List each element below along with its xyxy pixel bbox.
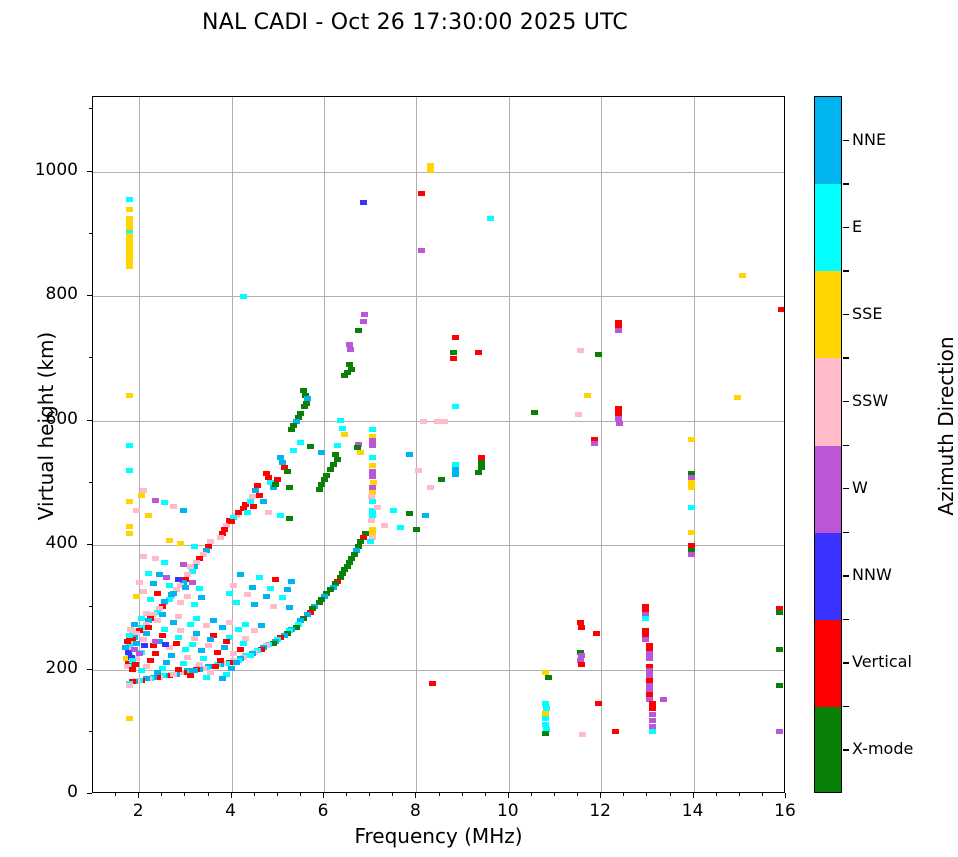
echo-point [288,579,295,584]
echo-point [136,651,143,656]
echo-point [126,443,133,448]
echo-point [175,577,182,582]
echo-point [355,328,362,333]
colorbar-boundary-tick [843,706,849,707]
echo-point [649,718,656,723]
echo-point [124,639,131,644]
echo-point [369,463,376,468]
echo-point [251,628,258,633]
y-axis-tick [87,544,92,545]
echo-point [739,273,746,278]
echo-point [422,513,429,518]
x-axis-minor-tick [115,793,116,796]
echo-point [126,716,133,721]
x-axis-minor-tick [646,793,647,796]
echo-point [260,499,267,504]
echo-point [191,636,198,641]
echo-point [240,641,247,646]
echo-point [452,335,459,340]
x-axis-minor-tick [577,793,578,796]
echo-point [452,472,459,477]
echo-point [200,656,207,661]
echo-point [233,660,240,665]
echo-point [126,683,133,688]
echo-point [212,664,219,669]
echo-point [361,312,368,317]
echo-point [374,505,381,510]
y-axis-tick [87,171,92,172]
echo-point [150,581,157,586]
colorbar-tick [843,662,849,663]
colorbar-tick [843,749,849,750]
echo-point [168,592,175,597]
echo-point [159,612,166,617]
echo-point [182,585,189,590]
echo-point [427,168,434,173]
echo-point [776,729,783,734]
echo-point [297,440,304,445]
echo-point [270,604,277,609]
echo-point [154,618,161,623]
echo-point [584,393,591,398]
colorbar-label-ssw: SSW [852,391,888,410]
x-axis-minor-tick [392,793,393,796]
colorbar-segment-e[interactable] [815,184,841,271]
echo-point [175,614,182,619]
echo-point [612,729,619,734]
colorbar-tick [843,140,849,141]
x-axis-tick-label: 14 [663,801,723,821]
x-axis-minor-tick [716,793,717,796]
echo-point [420,419,427,424]
echo-point [406,452,413,457]
y-axis-label: Virtual height (km) [34,286,58,566]
echo-point [173,641,180,646]
echo-point [429,681,436,686]
echo-point [126,499,133,504]
echo-point [286,516,293,521]
echo-point [191,602,198,607]
echo-point [133,508,140,513]
echo-point [595,352,602,357]
echo-point [187,673,194,678]
x-axis-tick [415,793,416,798]
echo-point [441,419,448,424]
echo-point [126,524,133,529]
echo-point [418,248,425,253]
echo-point [163,575,170,580]
echo-point [237,647,244,652]
echo-point [217,658,224,663]
echo-point [642,637,649,642]
echo-point [250,504,257,509]
echo-point [545,675,552,680]
echo-point [127,627,134,632]
y-axis-minor-tick [89,108,92,109]
echo-point [390,508,397,513]
echo-point [152,639,159,644]
echo-point [230,651,237,656]
echo-point [138,616,145,621]
colorbar-label-nne: NNE [852,130,886,149]
echo-point [126,197,133,202]
x-axis-minor-tick [739,793,740,796]
echo-point [688,437,695,442]
echo-point [180,562,187,567]
echo-point [251,602,258,607]
scatter-data-layer [93,97,784,792]
echo-point [776,610,783,615]
echo-point [233,600,240,605]
echo-point [161,560,168,565]
echo-point [217,535,224,540]
echo-point [415,468,422,473]
x-axis-tick [693,793,694,798]
colorbar-boundary-tick [843,183,849,184]
x-axis-minor-tick [485,793,486,796]
echo-point [578,625,585,630]
x-axis-minor-tick [208,793,209,796]
echo-point [316,487,323,492]
echo-point [360,200,367,205]
echo-point [247,653,254,658]
echo-point [263,594,270,599]
echo-point [258,623,265,628]
echo-point [126,207,133,212]
echo-point [126,468,133,473]
echo-point [226,620,233,625]
chart-title: NAL CADI - Oct 26 17:30:00 2025 UTC [0,10,830,35]
echo-point [369,427,376,432]
echo-point [145,513,152,518]
colorbar-boundary-tick [843,619,849,620]
echo-point [579,732,586,737]
y-axis-minor-tick [89,606,92,607]
echo-point [198,595,205,600]
echo-point [193,616,200,621]
echo-point [170,504,177,509]
echo-point [531,410,538,415]
echo-point [279,595,286,600]
echo-point [182,647,189,652]
echo-point [357,450,364,455]
echo-point [642,616,649,621]
plot-area[interactable] [92,96,785,793]
echo-point [221,645,228,650]
echo-point [265,510,272,515]
colorbar-tick [843,401,849,402]
x-axis-tick [138,793,139,798]
x-axis-minor-tick [161,793,162,796]
echo-point [450,350,457,355]
colorbar-tick [843,314,849,315]
echo-point [140,589,147,594]
x-axis-tick-label: 6 [293,801,353,821]
echo-point [152,556,159,561]
echo-point [368,518,375,523]
echo-point [286,605,293,610]
x-axis-minor-tick [462,793,463,796]
echo-point [277,513,284,518]
colorbar-segment-nnw[interactable] [815,533,841,620]
echo-point [284,469,291,474]
echo-point [616,421,623,426]
colorbar-segment-x-mode[interactable] [815,707,841,793]
x-axis-label: Frequency (MHz) [92,824,785,848]
x-axis-tick-label: 8 [385,801,445,821]
x-axis-minor-tick [439,793,440,796]
echo-point [734,395,741,400]
echo-point [688,552,695,557]
echo-point [150,643,157,648]
y-axis-minor-tick [89,233,92,234]
colorbar-label-w: W [852,478,868,497]
echo-point [177,541,184,546]
echo-point [177,628,184,633]
echo-point [369,499,376,504]
echo-point [334,443,341,448]
x-axis-minor-tick [300,793,301,796]
echo-point [152,651,159,656]
x-axis-tick [600,793,601,798]
y-axis-tick-label: 200 [18,658,78,678]
echo-point [205,643,212,648]
echo-point [230,583,237,588]
x-axis-minor-tick [762,793,763,796]
echo-point [240,294,247,299]
echo-point [591,441,598,446]
echo-point [162,642,169,647]
colorbar-boundary-tick [843,357,849,358]
echo-point [207,637,214,642]
colorbar-segment-ssw[interactable] [815,358,841,445]
echo-point [166,538,173,543]
x-axis-minor-tick [184,793,185,796]
echo-point [256,493,263,498]
echo-point [242,622,249,627]
echo-point [152,498,159,503]
x-axis-minor-tick [623,793,624,796]
echo-point [180,661,187,666]
x-axis-minor-tick [277,793,278,796]
echo-point [132,662,139,667]
echo-point [189,642,196,647]
echo-point [141,643,148,648]
echo-point [272,482,279,487]
echo-point [776,683,783,688]
echo-point [688,485,695,490]
echo-point [413,527,420,532]
x-axis-tick-label: 12 [570,801,630,821]
echo-point [210,618,217,623]
echo-point [161,627,168,632]
colorbar-tick [843,575,849,576]
echo-point [369,474,376,479]
echo-point [367,539,374,544]
x-axis-tick-label: 10 [478,801,538,821]
echo-point [615,328,622,333]
echo-point [145,625,152,630]
x-axis-tick-label: 2 [108,801,168,821]
x-axis-minor-tick [554,793,555,796]
echo-point [154,591,161,596]
echo-point [381,523,388,528]
y-axis-minor-tick [89,482,92,483]
echo-point [593,631,600,636]
echo-point [187,622,194,627]
echo-point [649,712,656,717]
echo-point [406,511,413,516]
colorbar-label-vertical: Vertical [852,652,912,671]
echo-point [147,658,154,663]
echo-point [226,591,233,596]
colorbar-segment-sse[interactable] [815,271,841,358]
echo-point [318,450,325,455]
echo-point [184,594,191,599]
echo-point [369,443,376,448]
echo-point [301,404,308,409]
echo-point [307,444,314,449]
x-axis-tick-label: 16 [755,801,815,821]
y-axis-minor-tick [89,357,92,358]
colorbar-label: Azimuth Direction [934,286,958,566]
echo-point [244,592,251,597]
echo-point [191,544,198,549]
x-axis-minor-tick [346,793,347,796]
echo-point [187,564,194,569]
echo-point [487,216,494,221]
x-axis-tick [508,793,509,798]
echo-point [214,650,221,655]
echo-point [203,675,210,680]
azimuth-colorbar[interactable] [814,96,842,793]
echo-point [575,412,582,417]
echo-point [450,356,457,361]
echo-point [475,470,482,475]
y-axis-tick-label: 1000 [18,160,78,180]
echo-point [138,668,145,673]
echo-point [776,647,783,652]
x-axis-minor-tick [254,793,255,796]
echo-point [143,631,150,636]
echo-point [360,319,367,324]
x-axis-tick [323,793,324,798]
echo-point [140,637,147,642]
colorbar-tick [843,227,849,228]
echo-point [170,672,177,677]
echo-point [180,508,187,513]
echo-point [219,625,226,630]
colorbar-boundary-tick [843,270,849,271]
echo-point [577,348,584,353]
echo-point [170,620,177,625]
echo-point [646,656,653,661]
echo-point [235,627,242,632]
echo-point [778,307,785,312]
echo-point [660,697,667,702]
x-axis-minor-tick [369,793,370,796]
echo-point [327,467,334,472]
echo-point [284,587,291,592]
echo-point [138,493,145,498]
colorbar-segment-nne[interactable] [815,97,841,184]
echo-point [542,731,549,736]
colorbar-segment-vertical[interactable] [815,620,841,707]
colorbar-label-nnw: NNW [852,565,892,584]
echo-point [126,531,133,536]
echo-point [126,264,133,269]
echo-point [196,586,203,591]
echo-point [542,716,549,721]
echo-point [286,485,293,490]
echo-point [475,350,482,355]
y-axis-tick [87,793,92,794]
colorbar-segment-w[interactable] [815,446,841,533]
echo-point [122,645,129,650]
x-axis-tick [785,793,786,798]
echo-point [578,662,585,667]
echo-point [140,554,147,559]
y-axis-minor-tick [89,731,92,732]
echo-point [228,519,235,524]
echo-point [249,585,256,590]
echo-point [203,623,210,628]
echo-point [397,525,404,530]
y-axis-tick-label: 0 [18,782,78,802]
echo-point [347,347,354,352]
echo-point [615,416,622,421]
echo-point [189,580,196,585]
echo-point [177,600,184,605]
echo-point [126,633,133,638]
echo-point [369,455,376,460]
echo-point [133,641,140,646]
echo-point [159,633,166,638]
echo-point [427,485,434,490]
echo-point [161,599,168,604]
echo-point [168,653,175,658]
x-axis-tick-label: 4 [201,801,261,821]
colorbar-label-sse: SSE [852,304,882,323]
echo-point [147,597,154,602]
x-axis-minor-tick [670,793,671,796]
ionogram-figure: NAL CADI - Oct 26 17:30:00 2025 UTC 2468… [0,0,958,857]
echo-point [272,577,279,582]
echo-point [341,373,348,378]
echo-point [175,635,182,640]
echo-point [290,448,297,453]
echo-point [136,580,143,585]
echo-point [126,393,133,398]
echo-point [223,639,230,644]
echo-point [649,729,656,734]
colorbar-label-e: E [852,217,862,236]
echo-point [337,418,344,423]
colorbar-label-x-mode: X-mode [852,739,913,758]
echo-point [133,594,140,599]
x-axis-minor-tick [531,793,532,796]
echo-point [129,667,136,672]
echo-point [219,676,226,681]
colorbar-boundary-tick [843,445,849,446]
echo-point [339,426,346,431]
x-axis-tick [231,793,232,798]
echo-point [452,404,459,409]
echo-point [237,572,244,577]
echo-point [163,660,170,665]
echo-point [161,500,168,505]
echo-point [196,662,203,667]
